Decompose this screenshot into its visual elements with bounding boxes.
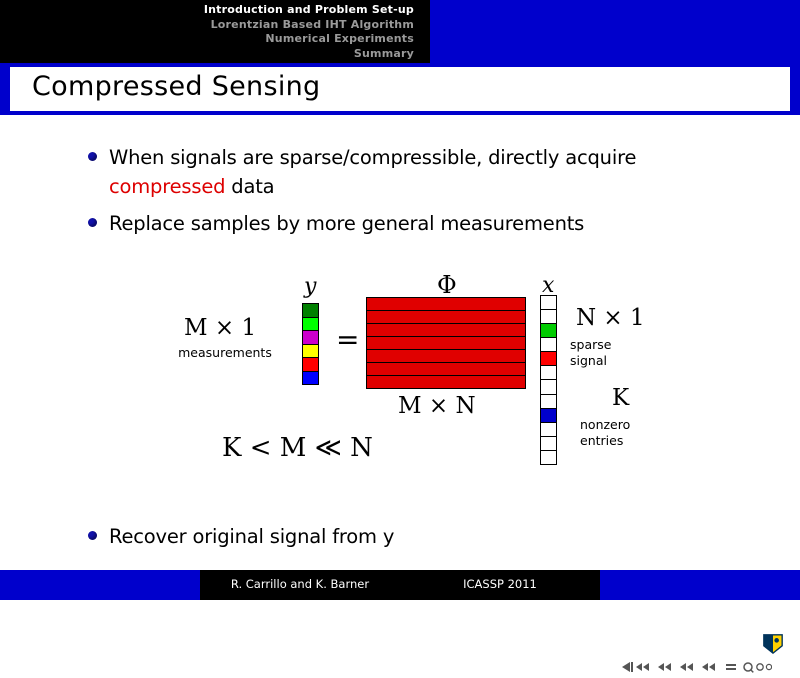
bullet-item-2: Replace samples by more general measurem…	[88, 209, 708, 238]
bullet-dot-icon	[88, 531, 97, 540]
bullet-text-3: Recover original signal from y	[109, 522, 394, 551]
phi-row	[367, 324, 525, 337]
figure-equals-sign: =	[336, 323, 359, 356]
figure-left-dims: M × 1	[184, 315, 256, 341]
figure-label-y: y	[304, 274, 316, 299]
figure-label-phi: Φ	[437, 271, 457, 299]
figure-right-k: K	[612, 385, 629, 411]
nav-arrows-icon[interactable]	[622, 660, 772, 674]
x-cell	[541, 409, 556, 423]
y-cell	[303, 331, 318, 345]
bullet-text-1: When signals are sparse/compressible, di…	[109, 143, 708, 201]
phi-row	[367, 311, 525, 324]
figure-right-dims: N × 1	[576, 305, 645, 331]
y-cell	[303, 345, 318, 359]
x-cell	[541, 310, 556, 324]
figure-right-caption-2: signal	[570, 353, 660, 368]
phi-row	[367, 350, 525, 363]
compressed-sensing-diagram: y Φ x =	[150, 265, 670, 495]
bullet-item-1: When signals are sparse/compressible, di…	[88, 143, 708, 201]
figure-right-k-caption-1: nonzero	[580, 417, 670, 432]
measurement-vector-y	[302, 303, 319, 385]
nav-item-introduction[interactable]: Introduction and Problem Set-up	[0, 3, 414, 18]
slide-footer: R. Carrillo and K. Barner ICASSP 2011	[0, 570, 800, 600]
title-bar: Compressed Sensing	[10, 67, 790, 111]
x-cell	[541, 451, 556, 464]
y-cell	[303, 358, 318, 372]
x-cell	[541, 423, 556, 437]
figure-right-caption-1: sparse	[570, 337, 660, 352]
phi-row	[367, 363, 525, 376]
figure-left-caption: measurements	[160, 345, 290, 360]
slide-content: When signals are sparse/compressible, di…	[0, 115, 800, 570]
y-cell	[303, 304, 318, 318]
x-cell	[541, 338, 556, 352]
nav-item-numerical[interactable]: Numerical Experiments	[0, 32, 414, 47]
x-cell	[541, 366, 556, 380]
x-cell	[541, 380, 556, 394]
page-title: Compressed Sensing	[32, 71, 320, 102]
beamer-nav-arrows[interactable]	[622, 660, 772, 678]
bullet-dot-icon	[88, 218, 97, 227]
title-bar-frame: Compressed Sensing	[0, 63, 800, 115]
slide: Introduction and Problem Set-up Lorentzi…	[0, 0, 800, 600]
x-cell	[541, 437, 556, 451]
header-navigation: Introduction and Problem Set-up Lorentzi…	[0, 3, 414, 61]
nav-item-summary[interactable]: Summary	[0, 47, 414, 62]
x-cell	[541, 296, 556, 310]
bullet-1-pre: When signals are sparse/compressible, di…	[109, 146, 636, 169]
bullet-1-post: data	[225, 175, 274, 198]
bullet-item-3: Recover original signal from y	[88, 522, 708, 551]
university-logo-icon	[762, 633, 784, 655]
sparse-signal-vector-x	[540, 295, 557, 465]
bullet-dot-icon	[88, 152, 97, 161]
sensing-matrix-phi	[366, 297, 526, 389]
bullet-1-emphasis: compressed	[109, 175, 225, 198]
phi-row	[367, 376, 525, 388]
footer-authors: R. Carrillo and K. Barner	[200, 577, 400, 591]
bullet-text-2: Replace samples by more general measurem…	[109, 209, 584, 238]
x-cell	[541, 352, 556, 366]
y-cell	[303, 372, 318, 385]
x-cell	[541, 324, 556, 338]
figure-right-k-caption-2: entries	[580, 433, 670, 448]
phi-row	[367, 298, 525, 311]
figure-matrix-dims: M × N	[398, 393, 476, 419]
x-cell	[541, 395, 556, 409]
y-cell	[303, 318, 318, 332]
nav-item-lorentzian[interactable]: Lorentzian Based IHT Algorithm	[0, 18, 414, 33]
phi-row	[367, 337, 525, 350]
footer-conference: ICASSP 2011	[400, 577, 600, 591]
figure-inequality: K < M ≪ N	[222, 433, 373, 463]
